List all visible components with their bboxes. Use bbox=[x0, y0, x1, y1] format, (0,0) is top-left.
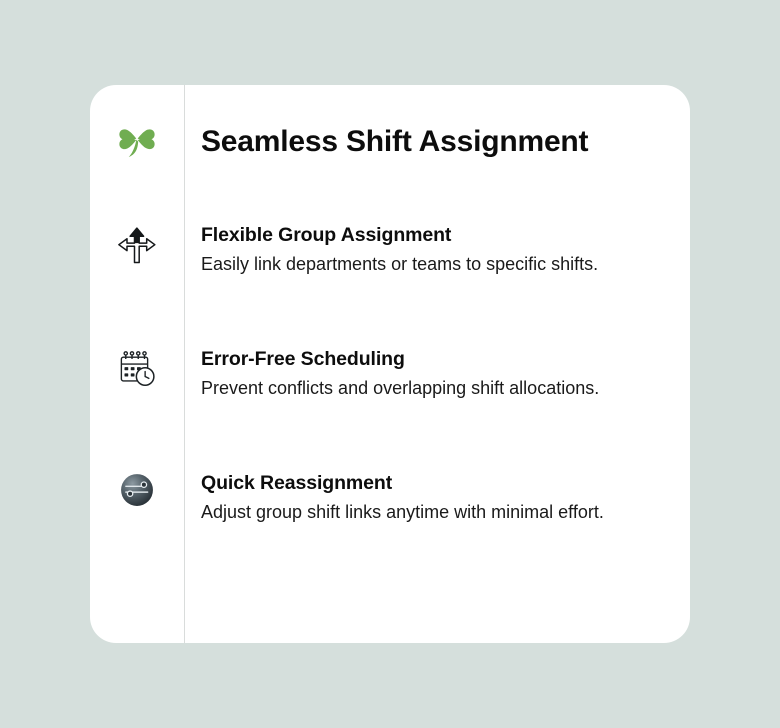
feature-3-text-cell: Quick Reassignment Adjust group shift li… bbox=[184, 471, 690, 527]
feature-2-text-cell: Error-Free Scheduling Prevent conflicts … bbox=[184, 347, 690, 403]
feature-2-icon-cell bbox=[90, 347, 184, 389]
feature-1-icon-cell bbox=[90, 223, 184, 265]
feature-row-3: Quick Reassignment Adjust group shift li… bbox=[90, 471, 690, 527]
hero-text-cell: Seamless Shift Assignment bbox=[184, 115, 690, 158]
feature-card: Seamless Shift Assignment Flexible Group… bbox=[90, 85, 690, 643]
page-title: Seamless Shift Assignment bbox=[201, 115, 670, 158]
feature-description: Prevent conflicts and overlapping shift … bbox=[201, 374, 605, 402]
feature-description: Easily link departments or teams to spec… bbox=[201, 250, 605, 278]
hero-icon-cell bbox=[90, 115, 184, 163]
calendar-clock-icon bbox=[117, 349, 157, 389]
feature-title: Error-Free Scheduling bbox=[201, 347, 670, 371]
feature-1-text-cell: Flexible Group Assignment Easily link de… bbox=[184, 223, 690, 279]
hero-row: Seamless Shift Assignment bbox=[90, 115, 690, 163]
feature-row-1: Flexible Group Assignment Easily link de… bbox=[90, 223, 690, 279]
feature-3-icon-cell bbox=[90, 471, 184, 507]
feature-title: Flexible Group Assignment bbox=[201, 223, 670, 247]
three-way-arrow-icon bbox=[117, 225, 157, 265]
feature-row-2: Error-Free Scheduling Prevent conflicts … bbox=[90, 347, 690, 403]
page-root: Seamless Shift Assignment Flexible Group… bbox=[0, 0, 780, 728]
four-leaf-clover-icon bbox=[114, 117, 160, 163]
feature-description: Adjust group shift links anytime with mi… bbox=[201, 498, 605, 526]
sphere-network-icon bbox=[120, 473, 154, 507]
feature-title: Quick Reassignment bbox=[201, 471, 670, 495]
